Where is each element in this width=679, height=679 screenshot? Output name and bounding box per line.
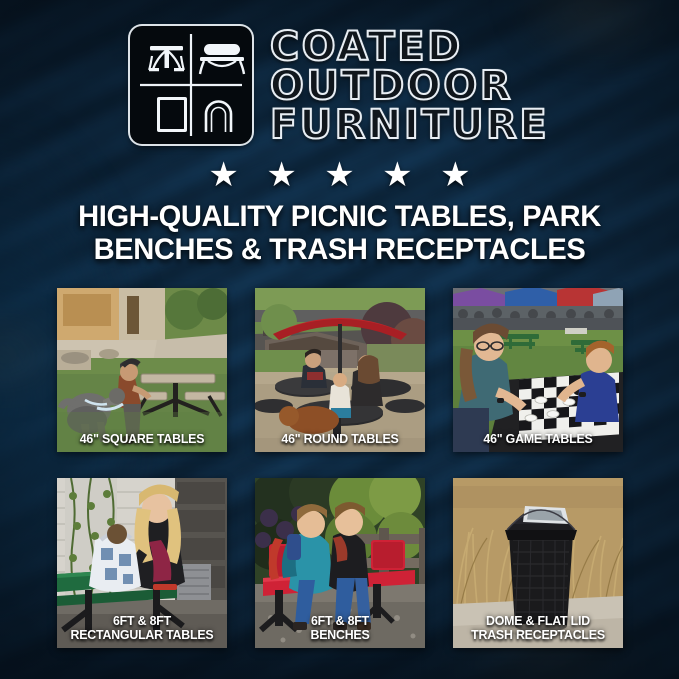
label-line-1: 46" ROUND TABLES [259,432,421,446]
label-line-1: 6FT & 8FT [61,614,223,628]
product-label-game-tables: 46" GAME TABLES [457,432,619,446]
page-title: HIGH-QUALITY PICNIC TABLES, PARK BENCHES… [10,200,669,266]
star-rating: ★ ★ ★ ★ ★ [0,158,679,192]
label-line-2: TRASH RECEPTACLES [457,628,619,642]
product-tile-trash-receptacles[interactable]: DOME & FLAT LID TRASH RECEPTACLES [453,478,623,648]
product-tile-square-tables[interactable]: 46" SQUARE TABLES [57,288,227,452]
brand-wordmark: COATED OUTDOOR FURNITURE [270,26,549,145]
label-line-1: 46" SQUARE TABLES [61,432,223,446]
picnic-table-icon [149,46,184,71]
promo-poster: COATED OUTDOOR FURNITURE ★ ★ ★ ★ ★ HIGH-… [0,0,679,679]
product-label-rectangular-tables: 6FT & 8FT RECTANGULAR TABLES [61,614,223,642]
product-tile-round-tables[interactable]: 46" ROUND TABLES [255,288,425,452]
game-tables-photo [453,288,623,452]
four-quadrant-furniture-icon [130,26,252,144]
product-label-trash-receptacles: DOME & FLAT LID TRASH RECEPTACLES [457,614,619,642]
brand-logo: COATED OUTDOOR FURNITURE [0,26,679,145]
product-tile-benches[interactable]: 6FT & 8FT BENCHES [255,478,425,648]
square-tables-photo [57,288,227,452]
park-bench-icon [200,44,244,74]
product-tile-rectangular-tables[interactable]: 6FT & 8FT RECTANGULAR TABLES [57,478,227,648]
product-label-benches: 6FT & 8FT BENCHES [259,614,421,642]
wordmark-line-1: COATED [270,28,549,67]
wordmark-line-2: OUTDOOR [270,67,549,106]
headline-line-2: BENCHES & TRASH RECEPTACLES [10,233,669,266]
product-grid: 46" SQUARE TABLES [57,288,623,648]
flat-lid-receptacle-icon [157,97,187,132]
headline-line-1: HIGH-QUALITY PICNIC TABLES, PARK [10,200,669,233]
label-line-1: 46" GAME TABLES [457,432,619,446]
product-label-round-tables: 46" ROUND TABLES [259,432,421,446]
round-tables-photo [255,288,425,452]
label-line-1: 6FT & 8FT [259,614,421,628]
label-line-2: BENCHES [259,628,421,642]
label-line-1: DOME & FLAT LID [457,614,619,628]
label-line-2: RECTANGULAR TABLES [61,628,223,642]
product-tile-game-tables[interactable]: 46" GAME TABLES [453,288,623,452]
product-label-square-tables: 46" SQUARE TABLES [61,432,223,446]
dome-lid-receptacle-icon [206,102,231,133]
wordmark-line-3: FURNITURE [270,106,549,145]
